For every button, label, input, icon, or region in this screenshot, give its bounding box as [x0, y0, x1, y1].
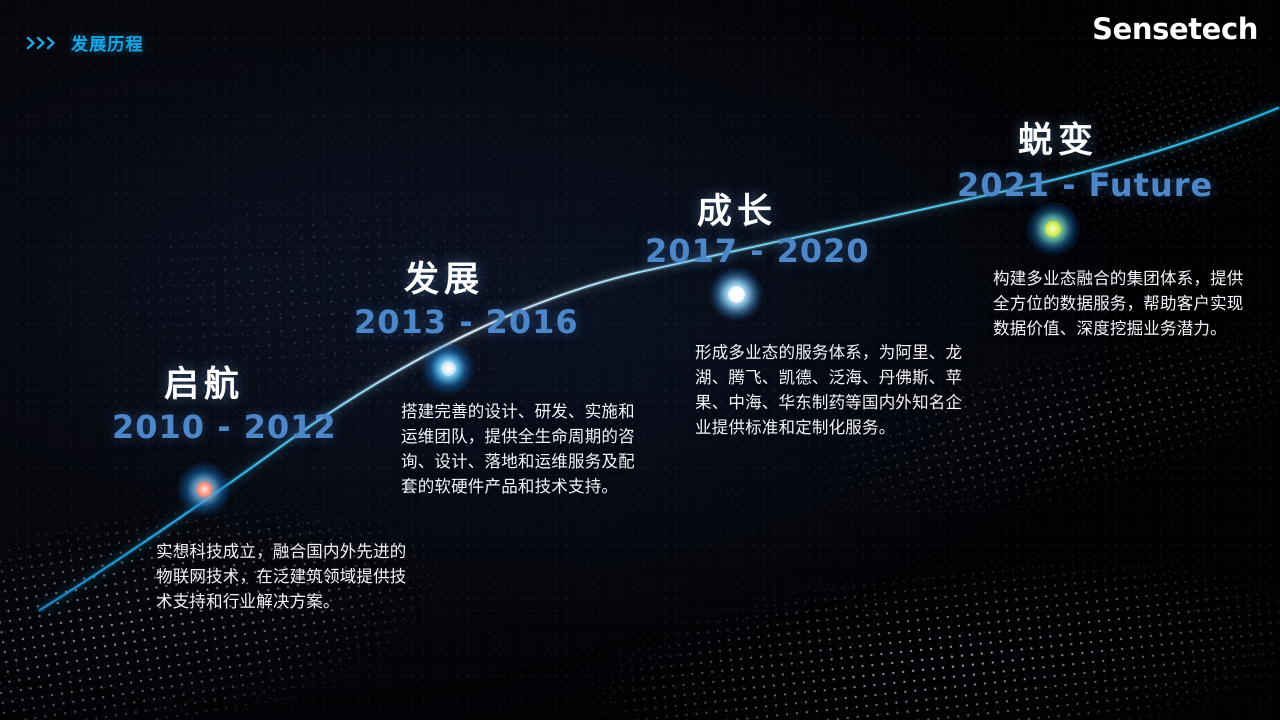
timeline-node-1[interactable]: [177, 462, 231, 516]
slide-header: 发展历程 Sensetech: [0, 0, 1280, 62]
milestone-3-description: 形成多业态的服务体系，为阿里、龙湖、腾飞、凯德、泛海、丹佛斯、苹果、中海、华东制…: [695, 341, 970, 441]
node-core-icon: [1045, 221, 1061, 237]
node-core-icon: [197, 482, 212, 497]
slide-canvas: 发展历程 Sensetech: [0, 0, 1280, 720]
milestone-3-title: 成长: [697, 183, 777, 234]
breadcrumb[interactable]: 发展历程: [26, 30, 144, 55]
timeline-node-4[interactable]: [1026, 202, 1080, 256]
node-core-icon: [728, 286, 745, 303]
node-core-icon: [441, 361, 456, 376]
timeline-node-3[interactable]: [709, 267, 763, 321]
milestone-4-year: 2021 - Future: [957, 166, 1213, 204]
milestone-2-description: 搭建完善的设计、研发、实施和运维团队，提供全生命周期的咨询、设计、落地和运维服务…: [401, 400, 649, 500]
milestone-2-title: 发展: [404, 251, 484, 302]
milestone-4-title: 蜕变: [1018, 112, 1098, 163]
milestone-3-year: 2017 - 2020: [645, 232, 870, 270]
brand-logo: Sensetech: [1092, 12, 1258, 46]
milestone-2-year: 2013 - 2016: [354, 303, 579, 341]
breadcrumb-label: 发展历程: [71, 30, 144, 55]
triple-chevron-right-icon: [26, 36, 60, 50]
milestone-1-description: 实想科技成立，融合国内外先进的物联网技术，在泛建筑领域提供技术支持和行业解决方案…: [156, 540, 422, 615]
milestone-1-title: 启航: [164, 356, 244, 407]
timeline-node-2[interactable]: [421, 341, 475, 395]
milestone-4-description: 构建多业态融合的集团体系，提供全方位的数据服务，帮助客户实现数据价值、深度挖掘业…: [993, 267, 1251, 342]
milestone-1-year: 2010 - 2012: [112, 408, 337, 446]
